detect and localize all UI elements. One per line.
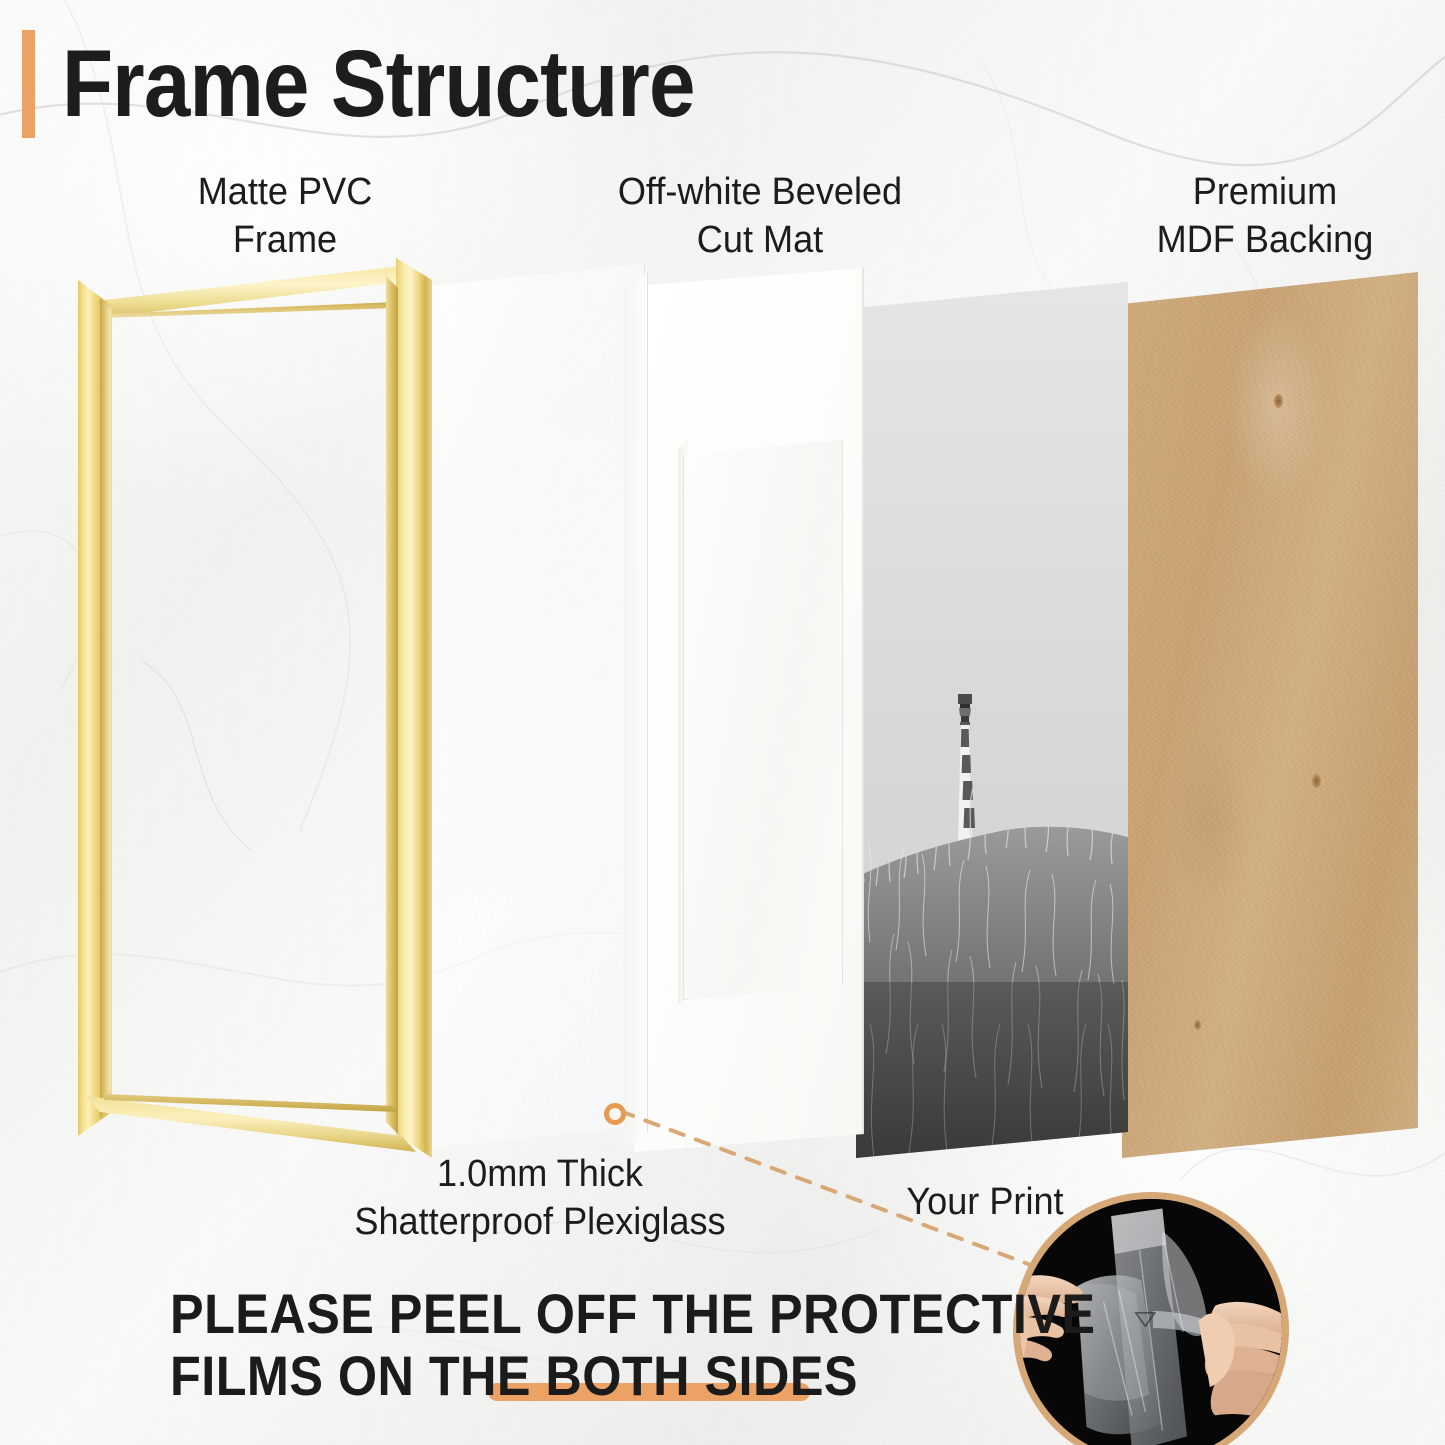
mdf-backing-panel [1122,272,1418,1158]
pvc-frame [78,258,438,1158]
ring-marker-icon [604,1103,626,1125]
mdf-texture [1122,272,1418,1158]
label-line-2: MDF Backing [1099,216,1432,264]
label-plexiglass: 1.0mm Thick Shatterproof Plexiglass [269,1150,811,1246]
frame-rail-right [396,258,432,1158]
mdf-knot [1312,774,1321,788]
mdf-knot [1194,1020,1201,1030]
label-line-2: Cut Mat [570,216,950,264]
footer-instruction: PLEASE PEEL OFF THE PROTECTIVE FILMS ON … [170,1283,1050,1407]
label-cut-mat: Off-white Beveled Cut Mat [570,168,950,264]
lighthouse-photo-icon [856,282,1128,1158]
label-line-1: Matte PVC [119,168,452,216]
mat-window-opening [683,440,843,1000]
label-line-1: 1.0mm Thick [269,1150,811,1198]
label-line-1: Premium [1099,168,1432,216]
label-line-2: Shatterproof Plexiglass [269,1198,811,1246]
frame-inner-right [386,276,398,1134]
infographic-canvas: Frame Structure Matte PVC Frame Off-whit… [0,0,1445,1445]
label-matte-pvc-frame: Matte PVC Frame [119,168,452,264]
label-mdf-backing: Premium MDF Backing [1099,168,1432,264]
title-text: Frame Structure [62,30,695,138]
plexiglass-sheet-front [624,272,648,1150]
title-accent-bar [22,30,35,138]
footer-line-2: FILMS ON THE BOTH SIDES [170,1345,962,1407]
page-title: Frame Structure [22,30,781,138]
label-line-1: Off-white Beveled [570,168,950,216]
footer-line-1: PLEASE PEEL OFF THE PROTECTIVE [170,1283,962,1345]
mdf-knot [1274,394,1283,408]
label-line-2: Frame [119,216,452,264]
frame-inner-left [100,298,111,1118]
photo-print-panel [856,282,1128,1158]
plexiglass-sheet-back [430,264,645,1148]
